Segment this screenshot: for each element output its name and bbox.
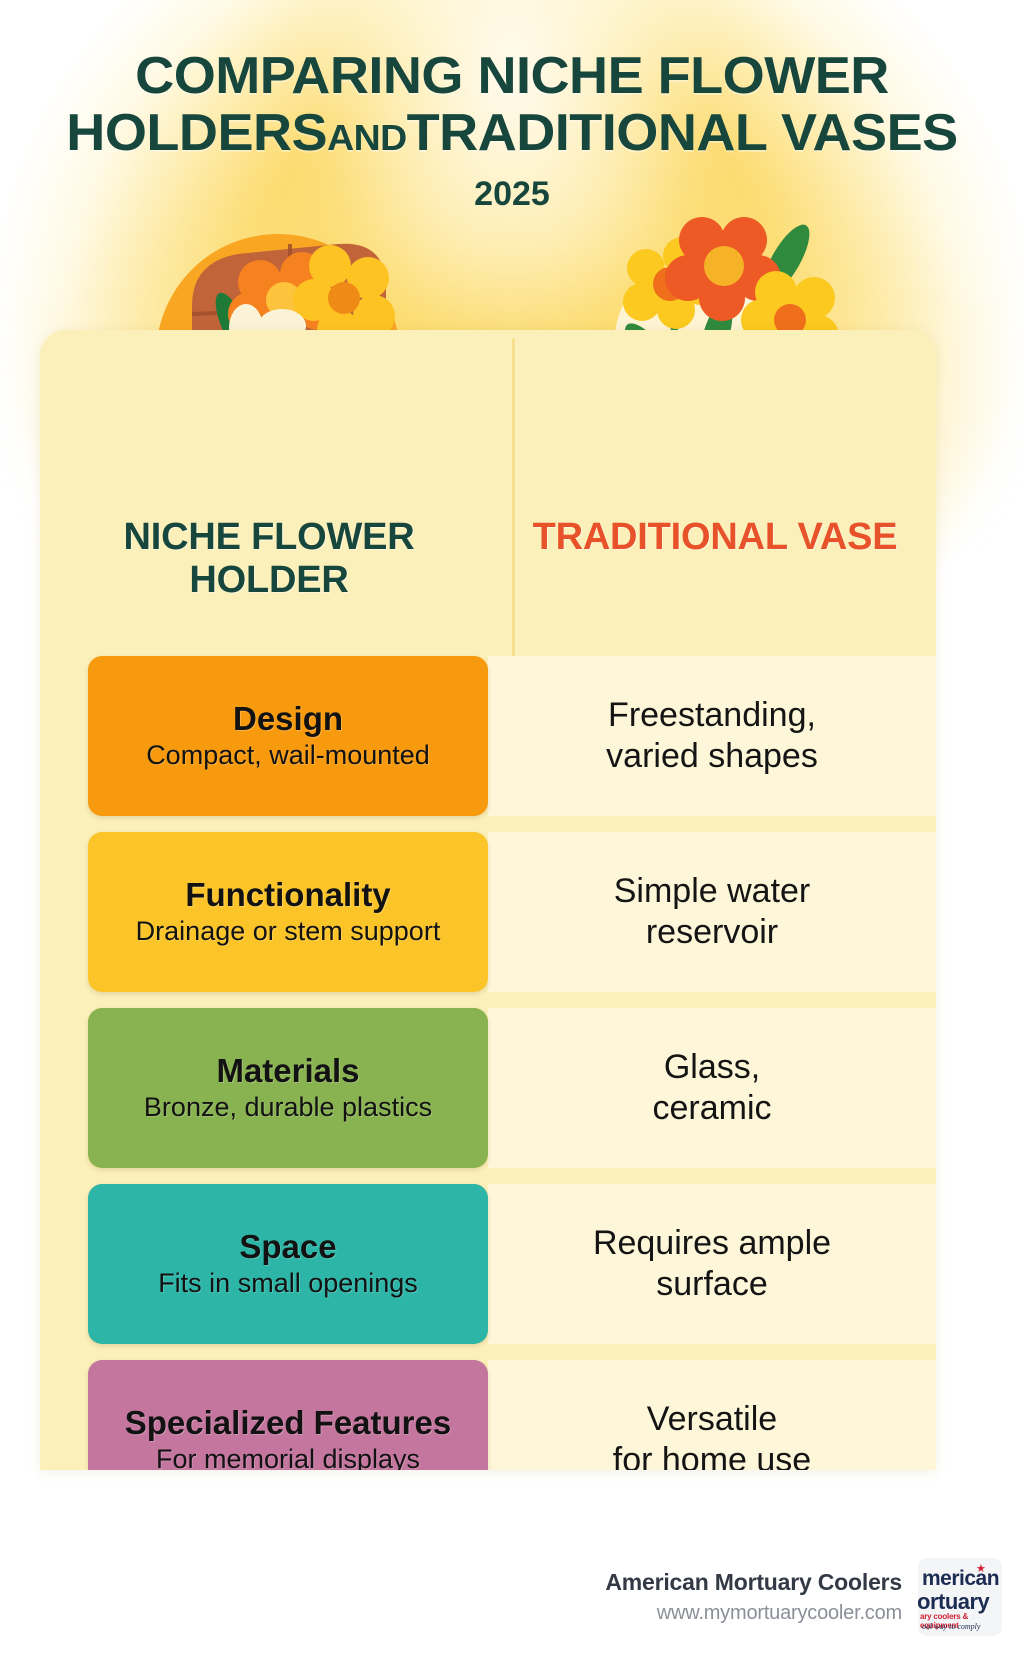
row-vase-value: Simple water reservoir: [488, 832, 936, 992]
logo-line-1: merican: [922, 1567, 999, 1591]
row-pill-materials: Materials Bronze, durable plastics: [88, 1008, 488, 1168]
column-header-niche-flower-holder: NICHE FLOWER HOLDER: [54, 516, 484, 603]
row-gap: [40, 816, 936, 832]
row-sublabel: Compact, wail-mounted: [146, 740, 430, 771]
vase-value-line2: surface: [593, 1264, 831, 1305]
table-row: Functionality Drainage or stem support S…: [40, 832, 936, 992]
row-vase-value: Versatile for home use: [488, 1360, 936, 1470]
vase-value-line1: Glass,: [652, 1047, 771, 1088]
row-pill-functionality: Functionality Drainage or stem support: [88, 832, 488, 992]
row-label: Functionality: [185, 877, 390, 913]
row-vase-value: Freestanding, varied shapes: [488, 656, 936, 816]
logo-line-4: ool way to comply: [922, 1622, 980, 1631]
table-row: Specialized Features For memorial displa…: [40, 1360, 936, 1470]
infographic-poster: COMPARING NICHE FLOWER HOLDERSANDTRADITI…: [0, 0, 1024, 1666]
vase-value-line2: ceramic: [652, 1088, 771, 1129]
column-headers: NICHE FLOWER HOLDER TRADITIONAL VASE: [40, 330, 936, 656]
comparison-card: NICHE FLOWER HOLDER TRADITIONAL VASE Des…: [40, 330, 936, 1470]
title-traditional-vases: TRADITIONAL VASES: [407, 104, 958, 162]
column-header-traditional-vase: TRADITIONAL VASE: [500, 516, 930, 559]
vase-value-line2: for home use: [613, 1440, 811, 1470]
row-label: Design: [233, 701, 343, 737]
row-label: Space: [239, 1229, 336, 1265]
title-line-1: COMPARING NICHE FLOWER: [0, 48, 1024, 105]
row-pill-design: Design Compact, wail-mounted: [88, 656, 488, 816]
american-mortuary-coolers-logo: ★ merican ortuary ary coolers & equipmen…: [918, 1558, 1002, 1636]
title-holders: HOLDERS: [66, 104, 327, 162]
row-gap: [40, 1344, 936, 1360]
brand-name: American Mortuary Coolers: [605, 1569, 902, 1596]
row-vase-value: Glass, ceramic: [488, 1008, 936, 1168]
row-label: Materials: [216, 1053, 359, 1089]
row-pill-space: Space Fits in small openings: [88, 1184, 488, 1344]
row-sublabel: Bronze, durable plastics: [144, 1092, 432, 1123]
page-title: COMPARING NICHE FLOWER HOLDERSANDTRADITI…: [0, 0, 1024, 161]
row-gap: [40, 992, 936, 1008]
vase-value-line2: varied shapes: [606, 736, 818, 777]
row-sublabel: Fits in small openings: [158, 1268, 418, 1299]
table-row: Design Compact, wail-mounted Freestandin…: [40, 656, 936, 816]
row-sublabel: Drainage or stem support: [136, 916, 441, 947]
row-sublabel: For memorial displays: [156, 1444, 420, 1470]
vase-value-line1: Requires ample: [593, 1223, 831, 1264]
comparison-rows: Design Compact, wail-mounted Freestandin…: [40, 656, 936, 1470]
vase-value-line1: Freestanding,: [606, 695, 818, 736]
poster-footer: American Mortuary Coolers www.mymortuary…: [0, 1548, 1024, 1666]
table-row: Space Fits in small openings Requires am…: [40, 1184, 936, 1344]
vase-value-line1: Simple water: [614, 871, 811, 912]
vase-value-line1: Versatile: [613, 1399, 811, 1440]
table-row: Materials Bronze, durable plastics Glass…: [40, 1008, 936, 1168]
title-line-2: HOLDERSANDTRADITIONAL VASES: [0, 105, 1024, 162]
title-and: AND: [327, 117, 407, 158]
vase-value-line2: reservoir: [614, 912, 811, 953]
brand-text: American Mortuary Coolers www.mymortuary…: [605, 1569, 902, 1625]
row-gap: [40, 1168, 936, 1184]
brand-url[interactable]: www.mymortuarycooler.com: [605, 1602, 902, 1625]
row-label: Specialized Features: [125, 1405, 451, 1441]
row-pill-specialized-features: Specialized Features For memorial displa…: [88, 1360, 488, 1470]
row-vase-value: Requires ample surface: [488, 1184, 936, 1344]
poster-header: COMPARING NICHE FLOWER HOLDERSANDTRADITI…: [0, 0, 1024, 214]
